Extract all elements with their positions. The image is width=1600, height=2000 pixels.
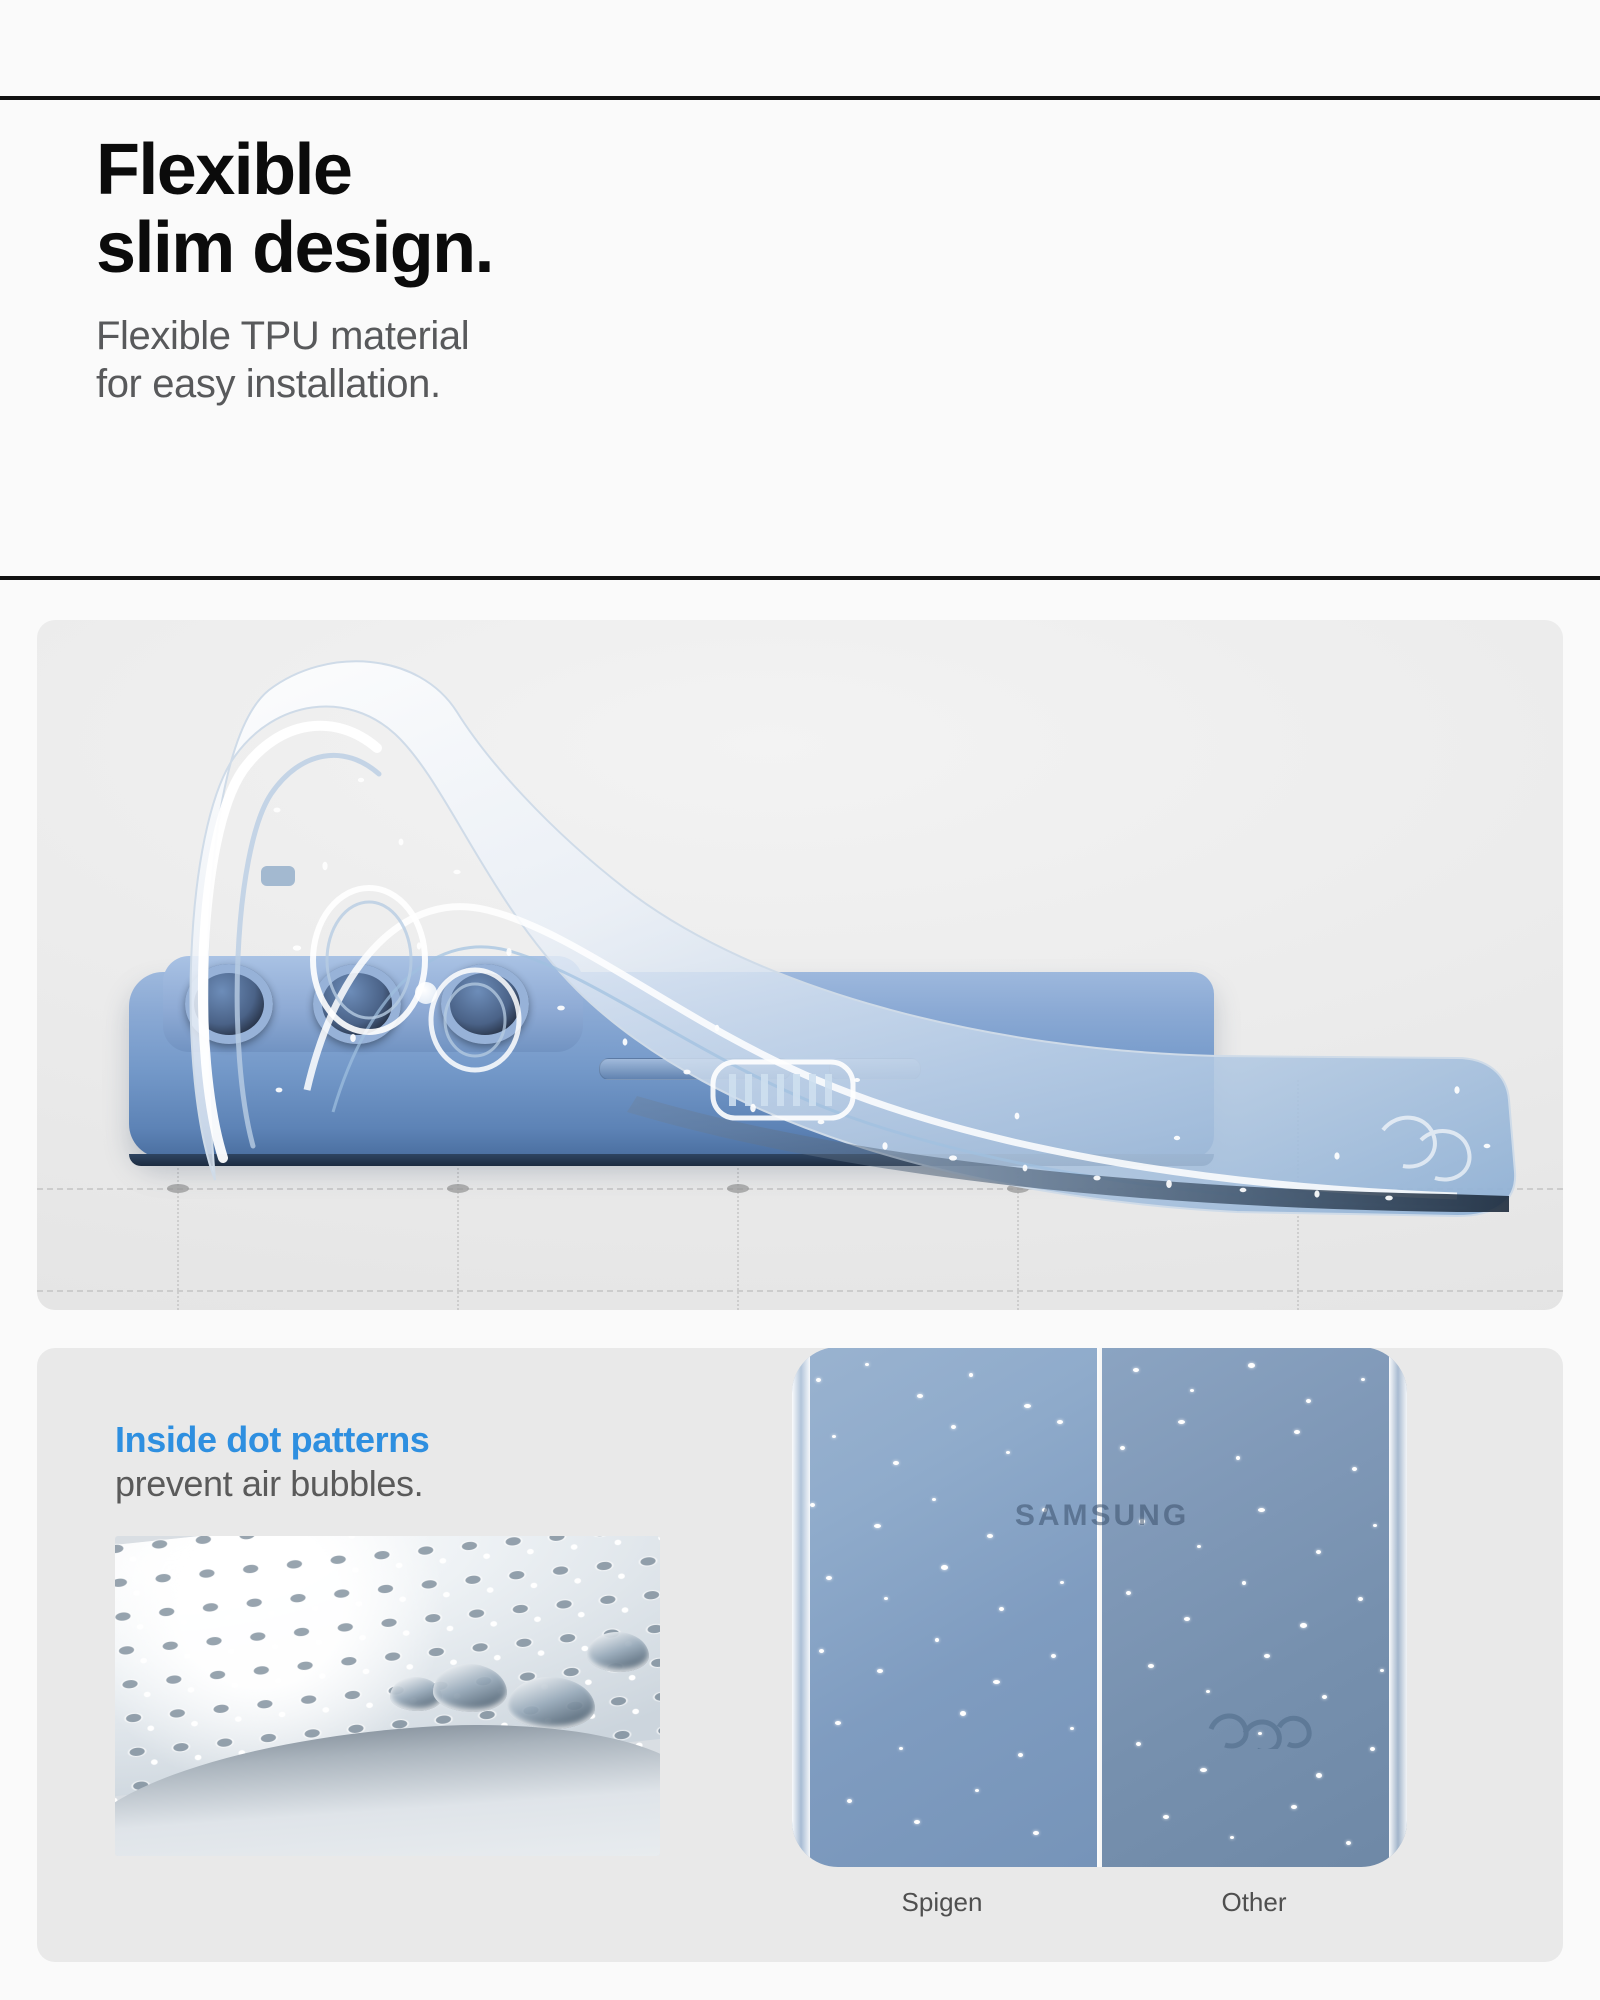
camera-flash-icon bbox=[415, 982, 437, 1004]
divider-top bbox=[0, 96, 1600, 100]
camera-lens-2 bbox=[313, 964, 401, 1044]
feature-caption: Inside dot patterns prevent air bubbles. bbox=[115, 1418, 695, 1506]
headline-line-2: slim design. bbox=[96, 210, 996, 288]
hero-image-panel bbox=[37, 620, 1563, 1310]
case-rim-right bbox=[1389, 1348, 1407, 1867]
case-rim-left bbox=[792, 1348, 810, 1867]
feature-comparison-panel: Inside dot patterns prevent air bubbles. bbox=[37, 1348, 1563, 1962]
feature-caption-muted: prevent air bubbles. bbox=[115, 1462, 695, 1506]
page-title: Flexible slim design. bbox=[96, 132, 996, 288]
subheadline: Flexible TPU material for easy installat… bbox=[96, 312, 996, 410]
case-comparison: SAMSUNG Spigen Other bbox=[792, 1348, 1412, 1907]
brand-glyph-icon bbox=[1201, 1689, 1321, 1749]
headline-line-1: Flexible bbox=[96, 132, 996, 210]
headline-block: Flexible slim design. Flexible TPU mater… bbox=[96, 132, 996, 409]
power-button bbox=[829, 1058, 921, 1080]
phone-device bbox=[129, 972, 1214, 1158]
divider-bottom bbox=[0, 576, 1600, 580]
glitter-texture-left bbox=[792, 1348, 1097, 1867]
subheadline-line-1: Flexible TPU material bbox=[96, 312, 996, 361]
label-other: Other bbox=[1104, 1887, 1404, 1918]
feature-caption-accent: Inside dot patterns bbox=[115, 1418, 695, 1462]
label-spigen: Spigen bbox=[792, 1887, 1092, 1918]
product-feature-page: Flexible slim design. Flexible TPU mater… bbox=[0, 0, 1600, 2000]
dot-pattern-photo bbox=[115, 1536, 660, 1856]
camera-lens-3 bbox=[441, 964, 529, 1044]
comparison-labels: Spigen Other bbox=[792, 1887, 1412, 1937]
glitter-texture-right bbox=[1102, 1348, 1407, 1867]
spigen-case-sample bbox=[792, 1348, 1097, 1867]
subheadline-line-2: for easy installation. bbox=[96, 360, 996, 409]
case-seam-divider bbox=[1097, 1348, 1102, 1867]
camera-island bbox=[163, 956, 583, 1052]
volume-button bbox=[599, 1058, 791, 1080]
other-case-sample bbox=[1102, 1348, 1407, 1867]
camera-lens-1 bbox=[185, 964, 273, 1044]
samsung-logo: SAMSUNG bbox=[792, 1499, 1412, 1533]
